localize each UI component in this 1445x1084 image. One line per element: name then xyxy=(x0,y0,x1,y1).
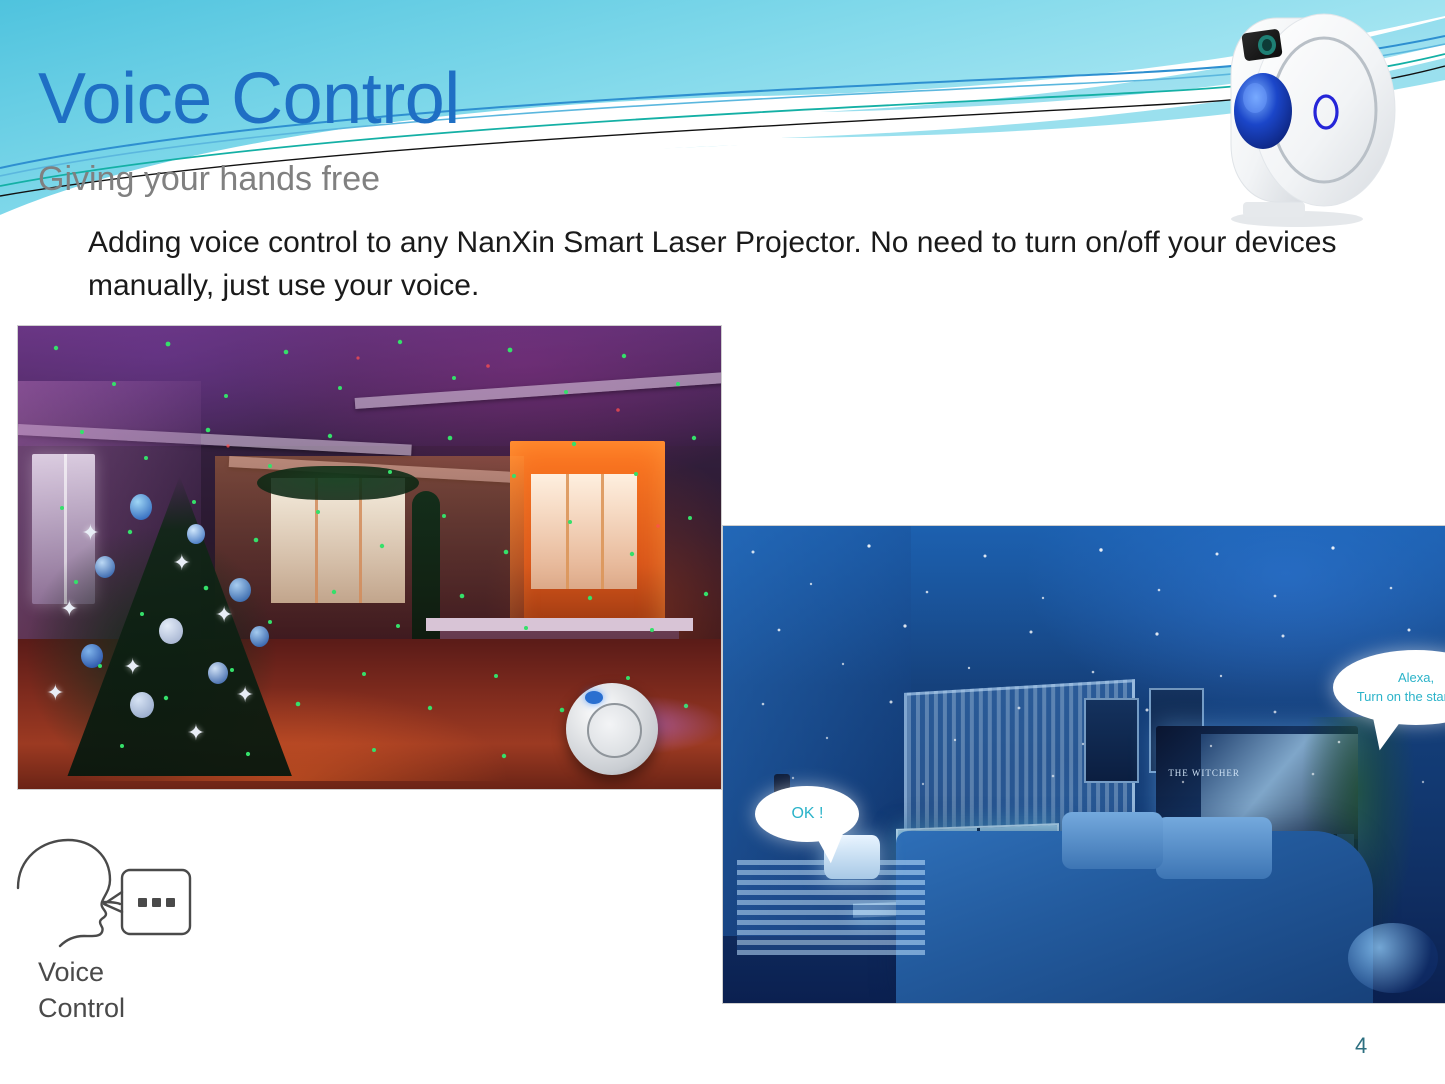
voice-control-caption: Voice Control xyxy=(38,955,208,1026)
projector-device-in-room xyxy=(566,683,658,775)
page-subtitle: Giving your hands free xyxy=(38,162,380,196)
page-title: Voice Control xyxy=(38,63,460,135)
slide-canvas: Voice Control Giving your hands free Add… xyxy=(0,0,1445,1084)
page-number: 4 xyxy=(1355,1033,1367,1059)
christmas-living-room-photo: ✦ ✦ ✦ ✦ ✦ ✦ ✦ ✦ xyxy=(17,325,722,790)
voice-caption-line2: Control xyxy=(38,991,208,1027)
product-image-laser-projector xyxy=(1185,6,1400,228)
speech-bubble-assistant-reply: OK ! xyxy=(755,786,859,842)
bubble-alexa-line1: Alexa, xyxy=(1357,669,1445,688)
bubble-alexa-line2: Turn on the star light xyxy=(1357,688,1445,707)
bubble-ok-line1: OK ! xyxy=(791,805,823,823)
voice-caption-line1: Voice xyxy=(38,955,208,991)
projector-indicator-light xyxy=(585,691,603,704)
star-projection-overlay xyxy=(723,526,1445,1003)
blue-bedroom-photo: THE WITCHER xyxy=(722,525,1445,1004)
bubble-tail-icon xyxy=(1367,715,1401,753)
body-paragraph: Adding voice control to any NanXin Smart… xyxy=(88,222,1338,307)
speaking-head-icon xyxy=(10,830,210,960)
